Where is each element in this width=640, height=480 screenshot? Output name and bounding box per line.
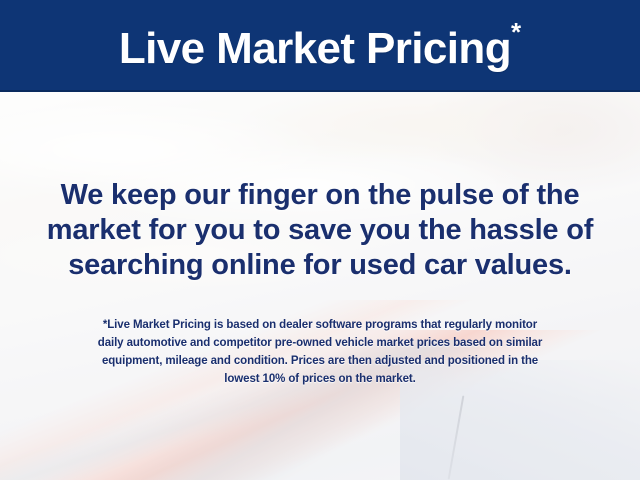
disclaimer-block: *Live Market Pricing is based on dealer …: [0, 316, 640, 388]
headline-line: searching online for used car values.: [0, 248, 640, 283]
live-market-pricing-banner: Live Market Pricing* We keep our finger …: [0, 0, 640, 480]
disclaimer-line: daily automotive and competitor pre-owne…: [0, 334, 640, 352]
page-title-text: Live Market Pricing: [119, 24, 511, 73]
disclaimer-line: *Live Market Pricing is based on dealer …: [0, 316, 640, 334]
headline-line: We keep our finger on the pulse of the: [0, 178, 640, 213]
background-pinstripe: [448, 395, 465, 479]
headline-block: We keep our finger on the pulse of the m…: [0, 178, 640, 283]
disclaimer-line: equipment, mileage and condition. Prices…: [0, 352, 640, 370]
headline-line: market for you to save you the hassle of: [0, 213, 640, 248]
footnote-asterisk-marker: *: [511, 17, 521, 47]
page-title: Live Market Pricing*: [119, 19, 521, 71]
header-bar: Live Market Pricing*: [0, 0, 640, 92]
disclaimer-line: lowest 10% of prices on the market.: [0, 370, 640, 388]
